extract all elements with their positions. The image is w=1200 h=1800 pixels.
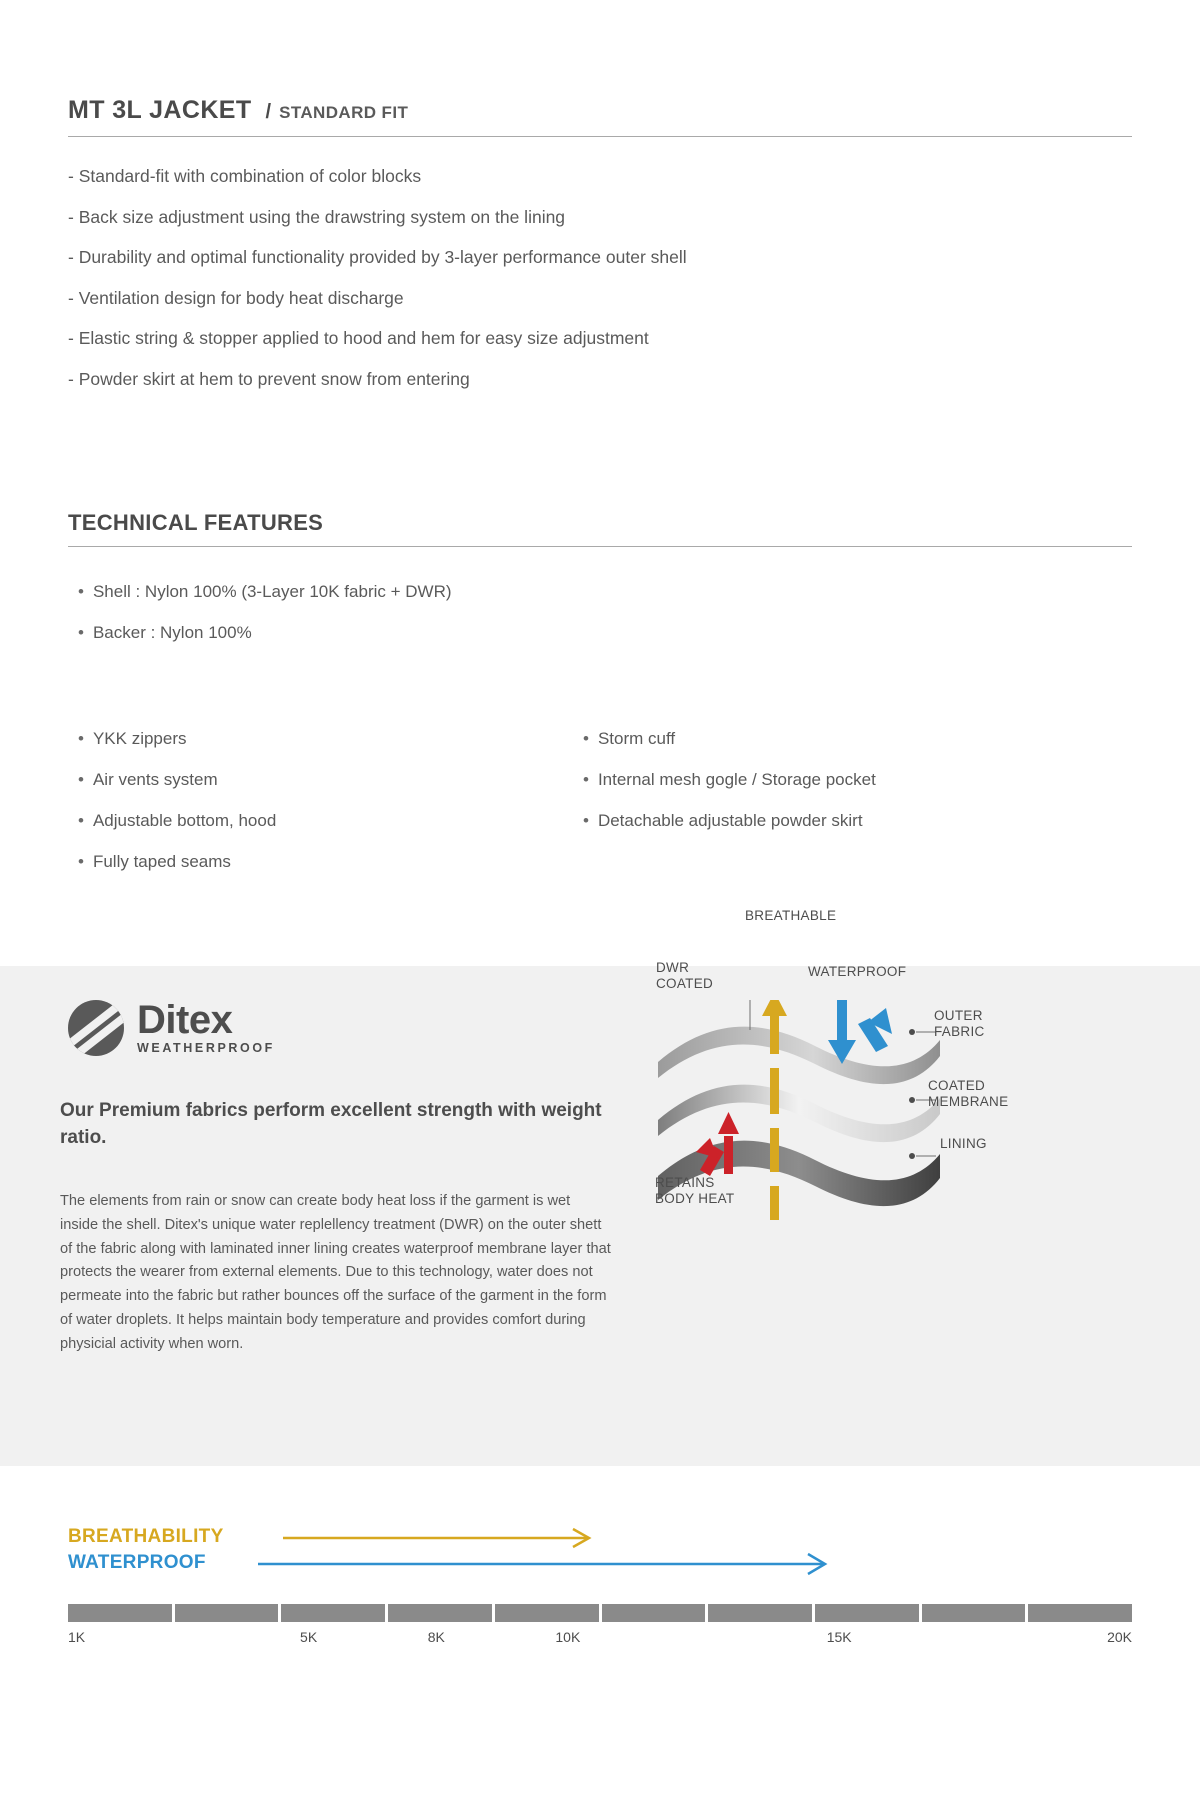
ditex-tagline: WEATHERPROOF: [137, 1041, 275, 1055]
scale-bar-wrap: 1K 5K 8K 10K 15K 20K: [68, 1604, 1132, 1651]
material-item: •Shell : Nylon 100% (3-Layer 10K fabric …: [78, 583, 978, 600]
bullet-icon: •: [583, 812, 589, 829]
diagram-label-lining: LINING: [940, 1136, 987, 1152]
page-title-block: MT 3L JACKET / STANDARD FIT: [68, 96, 1132, 137]
scale-segment: [602, 1604, 706, 1622]
scale-tick: 20K: [1107, 1629, 1132, 1645]
technical-item: •Fully taped seams: [78, 853, 583, 870]
bullet-icon: •: [78, 853, 84, 870]
technical-item: •Air vents system: [78, 771, 583, 788]
diagram-label-waterproof: WATERPROOF: [808, 964, 906, 980]
material-list: •Shell : Nylon 100% (3-Layer 10K fabric …: [78, 583, 978, 665]
spec-sheet-page: MT 3L JACKET / STANDARD FIT - Standard-f…: [0, 0, 1200, 1800]
title-divider: [68, 136, 1132, 137]
bullet-icon: •: [583, 730, 589, 747]
scale-segment: [708, 1604, 812, 1622]
bullet-icon: •: [78, 771, 84, 788]
technical-columns: •YKK zippers •Air vents system •Adjustab…: [78, 730, 1088, 894]
technical-features-heading: TECHNICAL FEATURES: [68, 510, 1132, 536]
technical-item-label: Adjustable bottom, hood: [93, 811, 276, 830]
scale-segment: [1028, 1604, 1132, 1622]
diagram-label-outer-fabric: OUTER FABRIC: [934, 1008, 985, 1041]
diagram-label-dwr-coated: DWR COATED: [656, 960, 713, 993]
scale-segment: [922, 1604, 1026, 1622]
retains-line-1: RETAINS: [655, 1175, 734, 1191]
technical-item-label: Air vents system: [93, 770, 218, 789]
technical-divider: [68, 546, 1132, 547]
technical-item-label: Fully taped seams: [93, 852, 231, 871]
material-item: •Backer : Nylon 100%: [78, 624, 978, 641]
feature-item: - Back size adjustment using the drawstr…: [68, 209, 1132, 227]
technical-item-label: Storm cuff: [598, 729, 675, 748]
technical-item-label: YKK zippers: [93, 729, 187, 748]
membrane-diagram: BREATHABLE DWR COATED WATERPROOF OUTER F…: [640, 1000, 1040, 1250]
technical-column-right: •Storm cuff •Internal mesh gogle / Stora…: [583, 730, 1088, 894]
feature-item: - Ventilation design for body heat disch…: [68, 290, 1132, 308]
retains-line-2: BODY HEAT: [655, 1191, 734, 1207]
scale-segment: [68, 1604, 172, 1622]
technical-item: •Storm cuff: [583, 730, 1088, 747]
bullet-icon: •: [583, 771, 589, 788]
technical-item-label: Internal mesh gogle / Storage pocket: [598, 770, 876, 789]
diagram-label-retains-body-heat: RETAINS BODY HEAT: [655, 1175, 734, 1208]
feature-item: - Standard-fit with combination of color…: [68, 168, 1132, 186]
feature-item: - Elastic string & stopper applied to ho…: [68, 330, 1132, 348]
bullet-icon: •: [78, 583, 84, 600]
coated-membrane-layer: [658, 1085, 940, 1142]
scale-bar: [68, 1604, 1132, 1622]
bullet-icon: •: [78, 812, 84, 829]
scale-segment: [281, 1604, 385, 1622]
outer-line-1: OUTER: [934, 1008, 985, 1024]
material-label: Backer : Nylon 100%: [93, 623, 252, 642]
scale-segment: [815, 1604, 919, 1622]
product-fit: STANDARD FIT: [279, 103, 408, 123]
ditex-circle-icon: [68, 1000, 124, 1056]
scale-tick: 10K: [555, 1629, 580, 1645]
ditex-brand-name: Ditex: [137, 1001, 275, 1039]
technical-item-label: Detachable adjustable powder skirt: [598, 811, 863, 830]
ditex-lead-text: Our Premium fabrics perform excellent st…: [60, 1098, 620, 1152]
ditex-body-text: The elements from rain or snow can creat…: [60, 1190, 612, 1356]
scale-segment: [495, 1604, 599, 1622]
outer-fabric-layer: [658, 1027, 940, 1084]
page-title: MT 3L JACKET / STANDARD FIT: [68, 96, 1132, 125]
diagram-label-coated-membrane: COATED MEMBRANE: [928, 1078, 1008, 1111]
feature-item: - Powder skirt at hem to prevent snow fr…: [68, 371, 1132, 389]
ditex-logo: Ditex WEATHERPROOF: [68, 1000, 275, 1056]
scale-tick: 1K: [68, 1629, 85, 1645]
dwr-line-2: COATED: [656, 976, 713, 992]
scale-row-breathability: BREATHABILITY: [68, 1524, 1132, 1550]
technical-column-left: •YKK zippers •Air vents system •Adjustab…: [78, 730, 583, 894]
technical-item: •Internal mesh gogle / Storage pocket: [583, 771, 1088, 788]
technical-item: •Adjustable bottom, hood: [78, 812, 583, 829]
waterproof-arrow-icon: [68, 1550, 1132, 1576]
feature-list: - Standard-fit with combination of color…: [68, 168, 1132, 411]
technical-features-block: TECHNICAL FEATURES: [68, 510, 1132, 547]
diagram-label-breathable: BREATHABLE: [745, 908, 836, 924]
outer-line-2: FABRIC: [934, 1024, 985, 1040]
scale-tick: 8K: [428, 1629, 445, 1645]
product-name: MT 3L JACKET: [68, 96, 252, 125]
technical-item: •YKK zippers: [78, 730, 583, 747]
coated-line-1: COATED: [928, 1078, 1008, 1094]
scale-ticks: 1K 5K 8K 10K 15K 20K: [68, 1629, 1132, 1651]
title-separator: /: [266, 101, 272, 124]
technical-item: •Detachable adjustable powder skirt: [583, 812, 1088, 829]
material-label: Shell : Nylon 100% (3-Layer 10K fabric +…: [93, 582, 452, 601]
scale-tick: 15K: [827, 1629, 852, 1645]
coated-line-2: MEMBRANE: [928, 1094, 1008, 1110]
ditex-logo-text: Ditex WEATHERPROOF: [137, 1001, 275, 1055]
scale-segment: [388, 1604, 492, 1622]
feature-item: - Durability and optimal functionality p…: [68, 249, 1132, 267]
performance-scale: BREATHABILITY WATERPROOF: [68, 1524, 1132, 1576]
waterproof-arrow-icon: [828, 1000, 892, 1064]
scale-segment: [175, 1604, 279, 1622]
scale-row-waterproof: WATERPROOF: [68, 1550, 1132, 1576]
bullet-icon: •: [78, 730, 84, 747]
breathability-arrow-icon: [68, 1524, 1132, 1550]
scale-tick: 5K: [300, 1629, 317, 1645]
dwr-line-1: DWR: [656, 960, 713, 976]
bullet-icon: •: [78, 624, 84, 641]
